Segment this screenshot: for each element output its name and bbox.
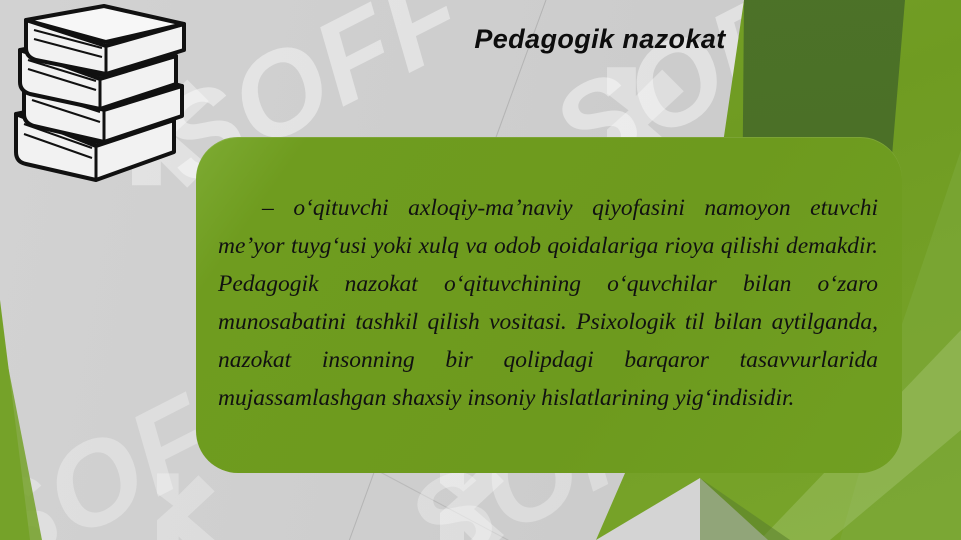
slide-canvas: SOFF SOFF SOFF SOFF SOFF <box>0 0 961 540</box>
page-title: Pedagogik nazokat <box>300 24 900 55</box>
card-body-text: – o‘qituvchi axloqiy-ma’naviy qiyofasini… <box>218 189 878 417</box>
content-card: – o‘qituvchi axloqiy-ma’naviy qiyofasini… <box>196 137 902 473</box>
chevron-logo-icon <box>148 468 220 540</box>
stack-of-books-icon <box>4 2 204 192</box>
